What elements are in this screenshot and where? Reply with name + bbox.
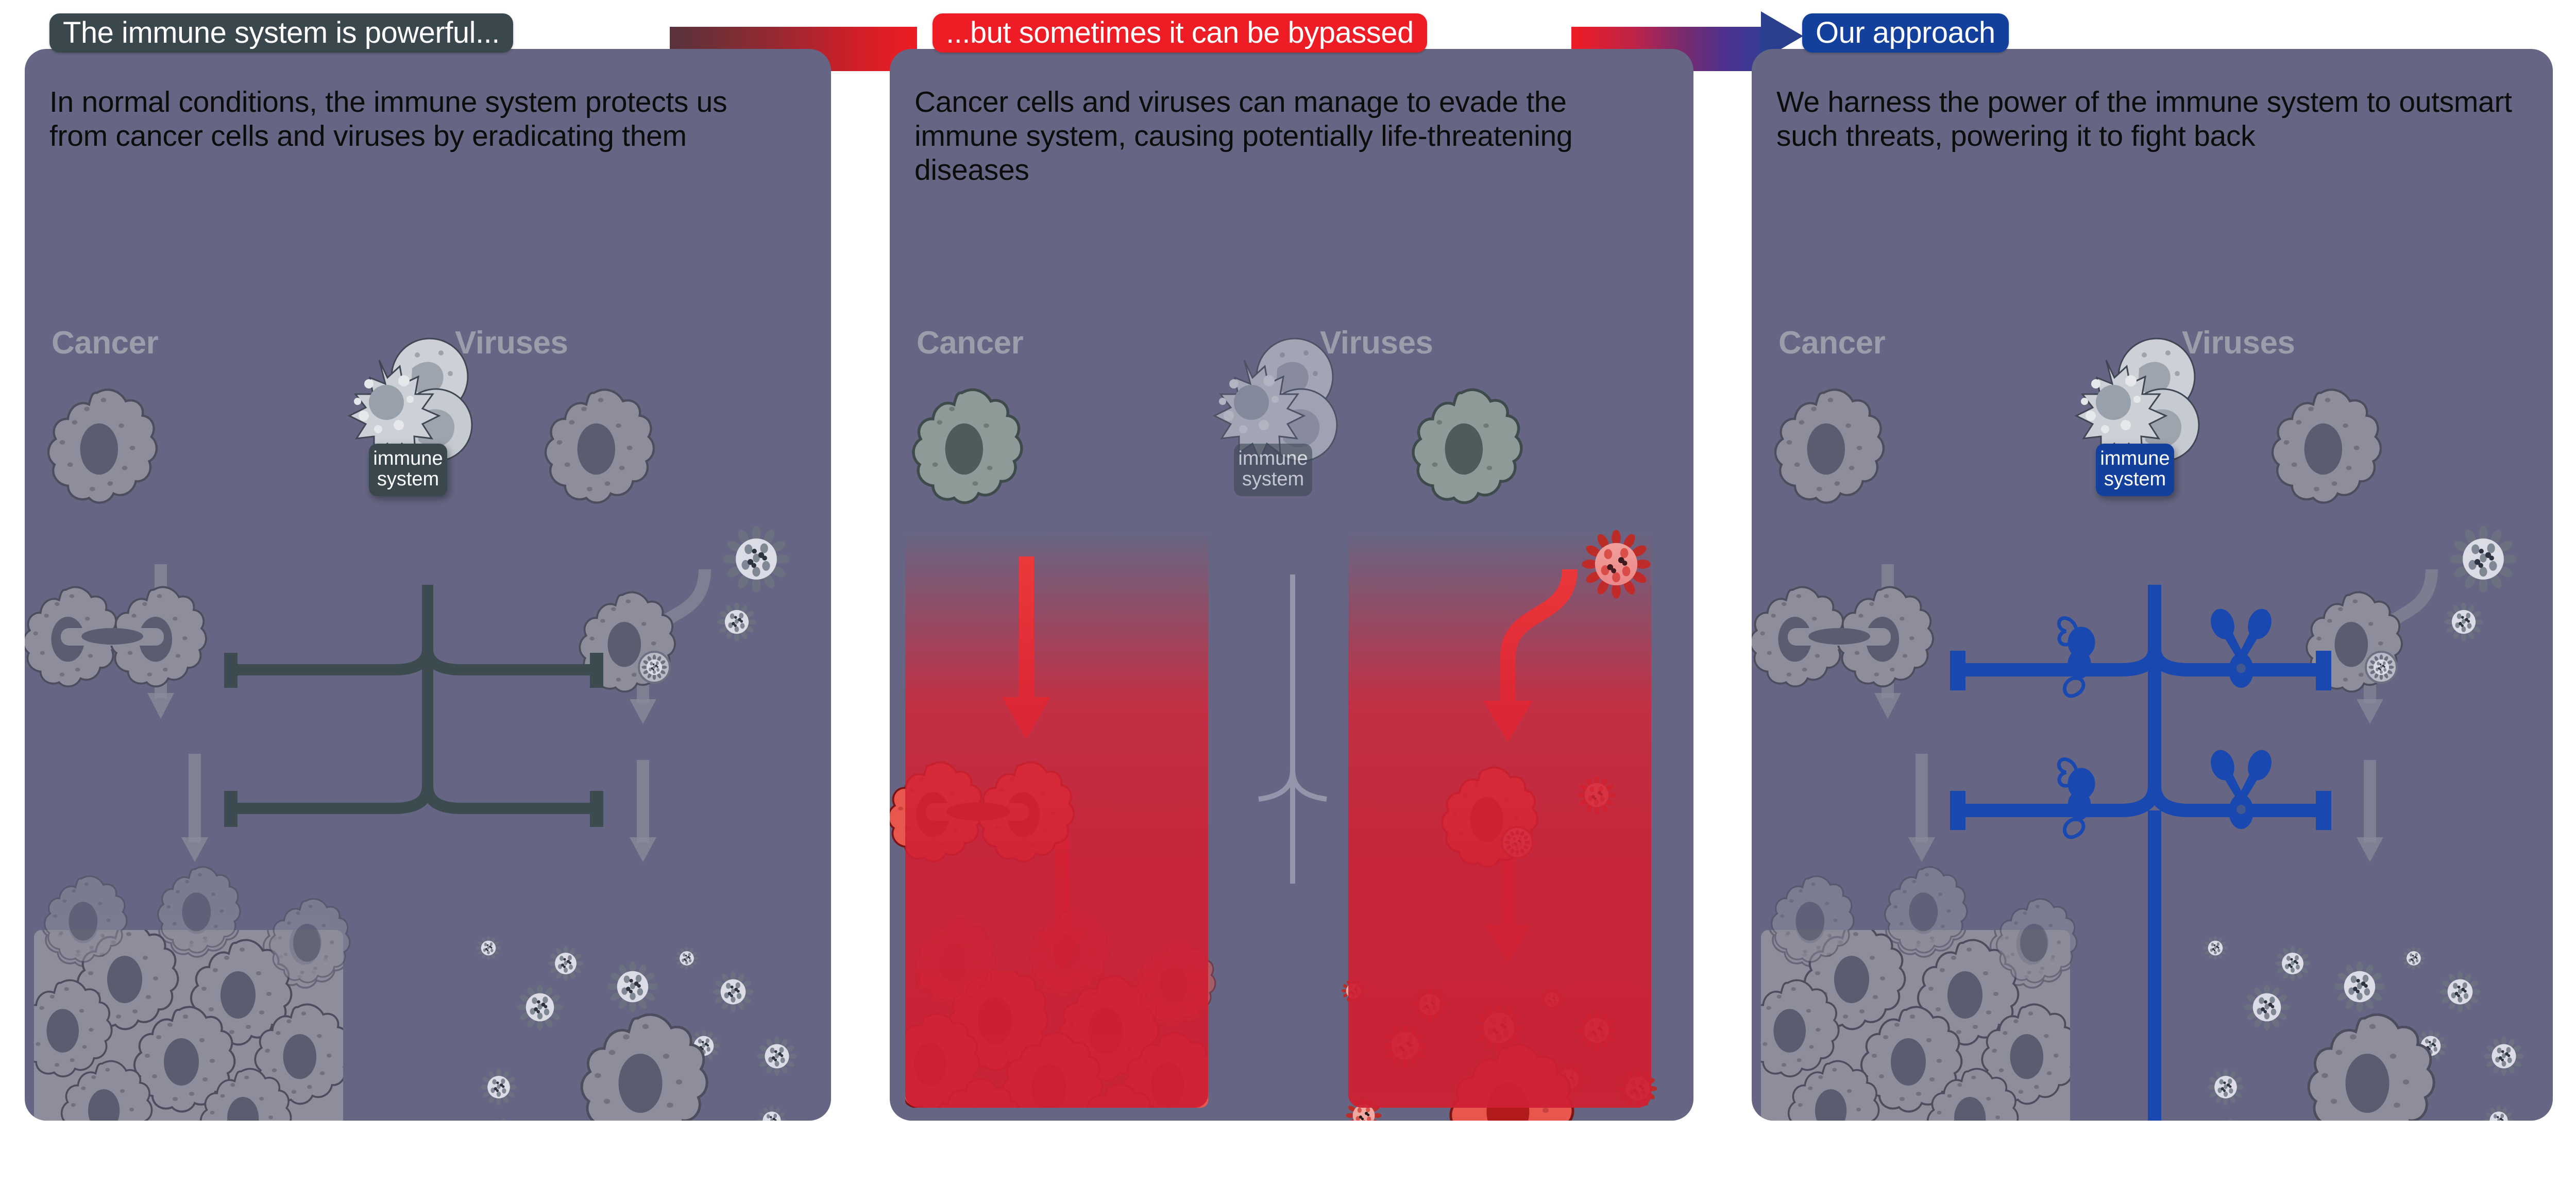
panel-3-graphics — [1752, 49, 2553, 1121]
tumour-mass — [1752, 865, 2078, 1121]
virus-particle-mid — [2445, 603, 2483, 641]
tumour-mass — [25, 865, 351, 1121]
panel-bypassed: Cancer Viruses — [890, 49, 1693, 1121]
virus-particle-top — [723, 526, 789, 592]
inhibitor-upper — [1958, 585, 2324, 786]
cancer-cell-top — [1775, 390, 1884, 502]
panel-3-header-badge[interactable]: Our approach — [1802, 13, 2009, 53]
immune-system-badge[interactable]: immune system — [2096, 444, 2174, 496]
immune-cluster-layer-3 — [1752, 49, 2553, 1121]
progression-arrow-cancer-2 — [181, 754, 208, 862]
column-heading-cancer: Cancer — [917, 325, 1023, 361]
panel-powerful: Cancer Viruses — [25, 49, 831, 1121]
progression-arrow-viruses-1 — [630, 569, 705, 724]
column-heading-cancer: Cancer — [52, 325, 158, 361]
cancer-cell-dividing — [1752, 587, 1933, 687]
progression-arrow-viruses-2 — [2357, 760, 2383, 862]
cancer-cell-top — [913, 390, 1022, 502]
immune-badge-line1: immune — [371, 449, 445, 469]
column-heading-viruses: Viruses — [1320, 325, 1433, 361]
released-virus-field — [2204, 936, 2523, 1121]
immune-badge-line1: immune — [2098, 449, 2172, 469]
immune-cluster-layer-1 — [25, 49, 831, 1121]
inhibitor-upper — [231, 585, 597, 786]
infected-host-cell — [580, 593, 675, 692]
virus-particle-top — [2450, 526, 2516, 592]
panel-1-header-label: The immune system is powerful... — [63, 18, 500, 48]
panel-1-graphics — [25, 49, 831, 1121]
panel-2-header-badge[interactable]: ...but sometimes it can be bypassed — [933, 13, 1427, 53]
inhibitor-lower — [231, 786, 597, 827]
progression-arrow-viruses-2 — [630, 760, 656, 862]
panel-3-stage: Cancer Viruses — [1752, 49, 2553, 1121]
immune-system-badge[interactable]: immune system — [1234, 444, 1312, 496]
panel-approach: Cancer Viruses — [1752, 49, 2553, 1121]
disease-wash-viruses — [1348, 531, 1651, 1108]
figure-root: Cancer Viruses — [0, 0, 2576, 1184]
panel-3-header-label: Our approach — [1816, 18, 1995, 48]
virus-host-cell-top — [2273, 390, 2381, 502]
released-virus-field — [477, 936, 796, 1121]
panel-2-caption: Cancer cells and viruses can manage to e… — [914, 85, 1651, 187]
column-heading-cancer: Cancer — [1778, 325, 1885, 361]
panel-1-stage: Cancer Viruses — [25, 49, 831, 1121]
panel-1-header-badge[interactable]: The immune system is powerful... — [49, 13, 513, 53]
progression-arrow-cancer-2 — [1908, 754, 1935, 862]
progression-arrow-cancer-1 — [147, 564, 174, 719]
progression-arrow-viruses-1 — [2357, 569, 2432, 724]
progression-arrow-cancer-1 — [1874, 564, 1901, 719]
virus-host-cell-top — [546, 390, 654, 502]
immune-badge-line1: immune — [1236, 449, 1310, 469]
panel-1-caption: In normal conditions, the immune system … — [49, 85, 786, 153]
engineered-protein-icon — [2059, 618, 2095, 837]
virus-host-cell-top — [1413, 390, 1521, 502]
suppressed-immune-stem — [1259, 574, 1327, 884]
panel-2-stage: Cancer Viruses — [890, 49, 1693, 1121]
antibody-icon — [2207, 606, 2275, 829]
inhibitor-lower — [1958, 786, 2324, 1121]
cancer-cell-dividing — [25, 587, 206, 687]
immune-badge-line2: system — [2098, 469, 2172, 490]
infected-host-cell — [2307, 593, 2402, 692]
virus-particle-mid — [718, 603, 756, 641]
disease-wash-cancer — [905, 531, 1208, 1108]
column-heading-viruses: Viruses — [455, 325, 568, 361]
immune-system-badge[interactable]: immune system — [369, 444, 447, 496]
column-heading-viruses: Viruses — [2182, 325, 2295, 361]
immune-badge-line2: system — [1236, 469, 1310, 490]
large-infected-cell — [582, 1014, 707, 1121]
large-infected-cell — [2309, 1014, 2434, 1121]
panel-2-header-label: ...but sometimes it can be bypassed — [946, 18, 1414, 48]
panel-3-caption: We harness the power of the immune syste… — [1776, 85, 2513, 153]
cancer-cell-top — [48, 390, 157, 502]
immune-badge-line2: system — [371, 469, 445, 490]
